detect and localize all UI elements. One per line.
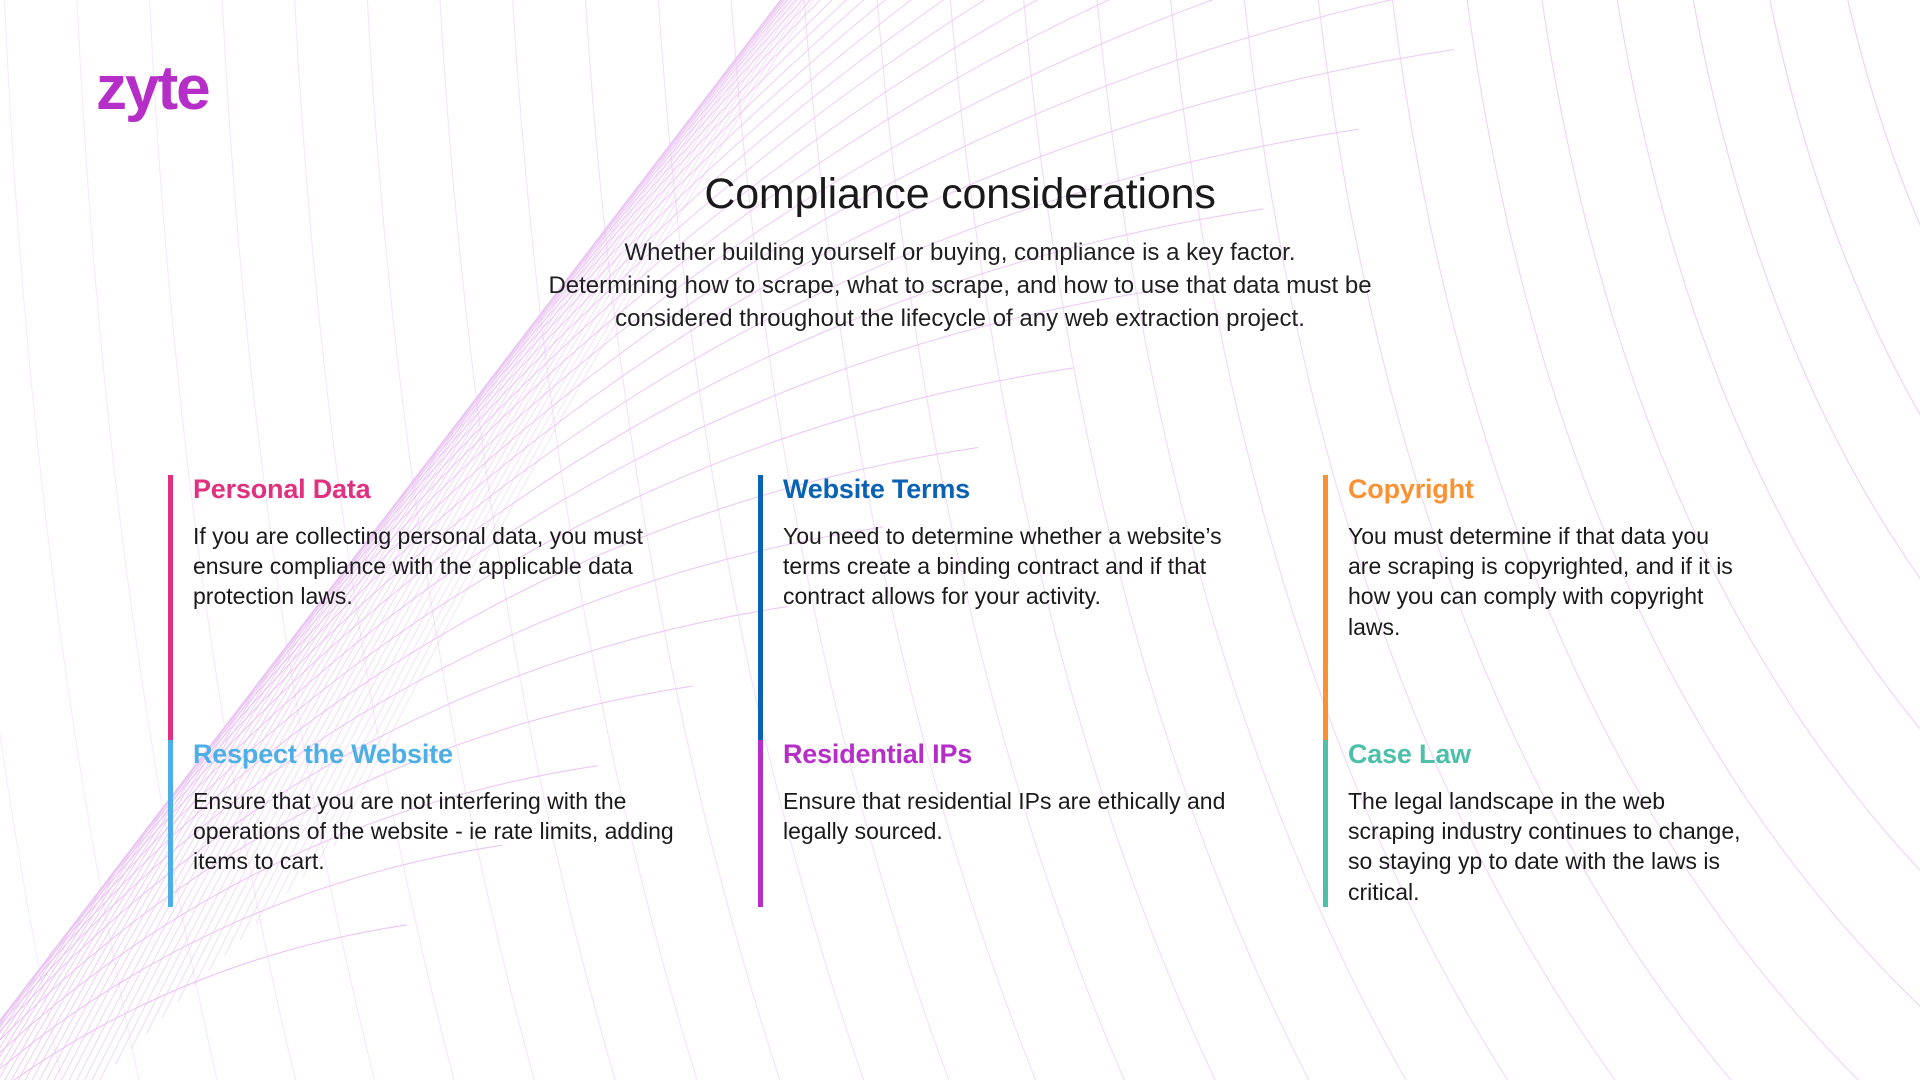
zyte-logo: zyte xyxy=(96,58,209,120)
card-accent-bar xyxy=(1323,475,1328,740)
card-text: The legal landscape in the web scraping … xyxy=(1348,786,1748,907)
card-title: Respect the Website xyxy=(193,740,718,770)
card-text: Ensure that residential IPs are ethicall… xyxy=(783,786,1283,847)
card-content: Case Law The legal landscape in the web … xyxy=(1348,740,1748,907)
card-title: Copyright xyxy=(1348,475,1748,505)
card-accent-bar xyxy=(168,475,173,740)
card-respect-the-website: Respect the Website Ensure that you are … xyxy=(168,740,758,907)
card-personal-data: Personal Data If you are collecting pers… xyxy=(168,475,758,740)
card-case-law: Case Law The legal landscape in the web … xyxy=(1323,740,1788,907)
card-content: Copyright You must determine if that dat… xyxy=(1348,475,1748,740)
card-title: Personal Data xyxy=(193,475,718,505)
card-residential-ips: Residential IPs Ensure that residential … xyxy=(758,740,1323,907)
card-text: You must determine if that data you are … xyxy=(1348,521,1748,642)
card-website-terms: Website Terms You need to determine whet… xyxy=(758,475,1323,740)
card-accent-bar xyxy=(758,475,763,740)
compliance-cards-grid: Personal Data If you are collecting pers… xyxy=(168,475,1788,907)
card-content: Respect the Website Ensure that you are … xyxy=(193,740,718,907)
card-accent-bar xyxy=(168,740,173,907)
card-content: Website Terms You need to determine whet… xyxy=(783,475,1283,740)
card-text: You need to determine whether a website’… xyxy=(783,521,1283,612)
card-title: Residential IPs xyxy=(783,740,1283,770)
card-content: Residential IPs Ensure that residential … xyxy=(783,740,1283,907)
card-content: Personal Data If you are collecting pers… xyxy=(193,475,718,740)
card-accent-bar xyxy=(1323,740,1328,907)
card-title: Website Terms xyxy=(783,475,1283,505)
card-copyright: Copyright You must determine if that dat… xyxy=(1323,475,1788,740)
card-text: Ensure that you are not interfering with… xyxy=(193,786,718,877)
page-title: Compliance considerations xyxy=(0,170,1920,219)
page-subtitle: Whether building yourself or buying, com… xyxy=(430,237,1490,336)
card-text: If you are collecting personal data, you… xyxy=(193,521,718,612)
header: Compliance considerations Whether buildi… xyxy=(0,170,1920,336)
card-accent-bar xyxy=(758,740,763,907)
card-title: Case Law xyxy=(1348,740,1748,770)
